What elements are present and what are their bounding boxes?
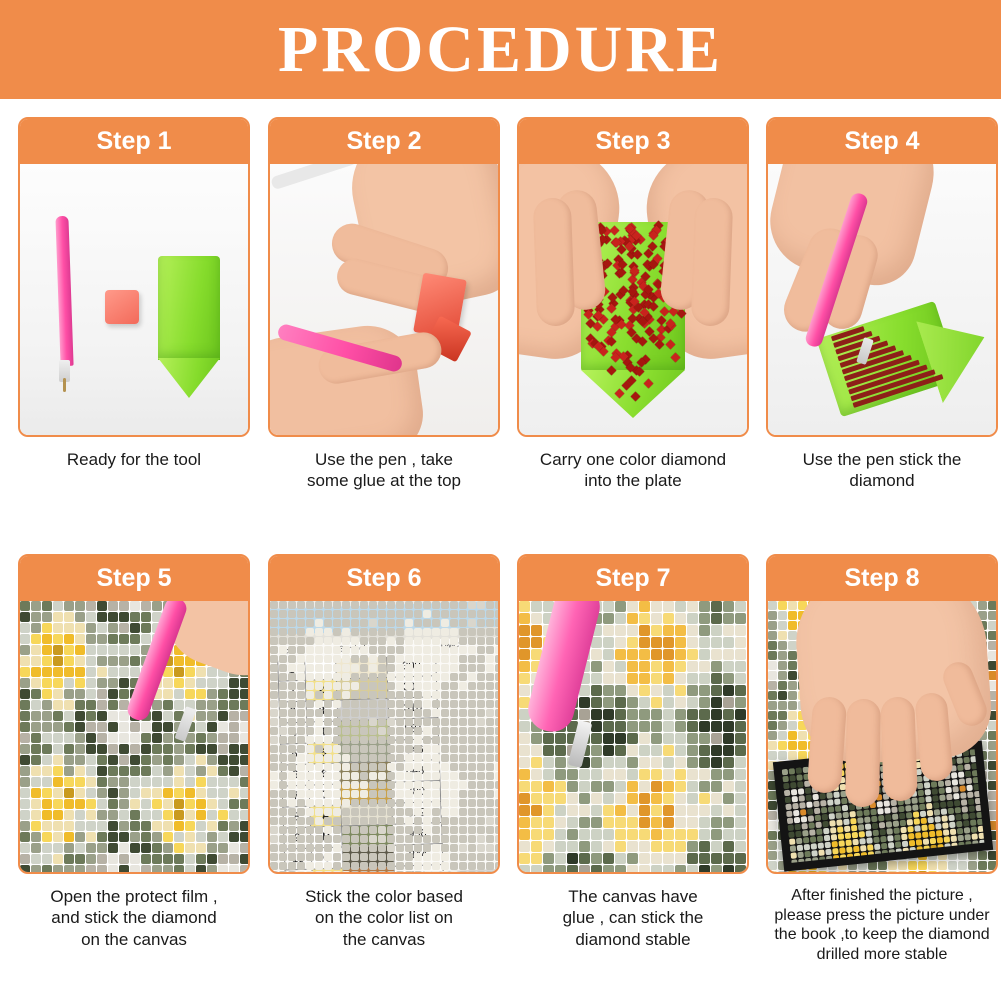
steps-grid: Step 1 <box>0 99 1001 1001</box>
step-2-label: Step 2 <box>346 127 421 156</box>
step-card-2: Step 2 <box>268 117 500 547</box>
step-card-7: Step 7 The canvas have glue , can stick … <box>517 554 749 984</box>
step-7-caption: The canvas have glue , can stick the dia… <box>517 886 749 950</box>
step-5-header: Step 5 <box>20 556 248 601</box>
procedure-infographic: PROCEDURE Step 1 <box>0 0 1001 1001</box>
canvas-edge-mosaic <box>270 601 498 872</box>
step-1-header: Step 1 <box>20 119 248 164</box>
step-8-label: Step 8 <box>844 564 919 593</box>
step-5-card: Step 5 <box>18 554 250 874</box>
step-3-label: Step 3 <box>595 127 670 156</box>
step-1-card: Step 1 <box>18 117 250 437</box>
step-5-label: Step 5 <box>96 564 171 593</box>
step-2-card: Step 2 <box>268 117 500 437</box>
step-6-label: Step 6 <box>346 564 421 593</box>
step-2-photo <box>270 164 498 435</box>
step-7-label: Step 7 <box>595 564 670 593</box>
step-6-card: Step 6 No.SymbolDMC130022307333104458155… <box>268 554 500 874</box>
step-6-caption: Stick the color based on the color list … <box>268 886 500 950</box>
step-3-caption: Carry one color diamond into the plate <box>517 449 749 492</box>
step-3-header: Step 3 <box>519 119 747 164</box>
step-7-header: Step 7 <box>519 556 747 601</box>
step-4-header: Step 4 <box>768 119 996 164</box>
step-card-3: Step 3 <box>517 117 749 547</box>
step-4-caption: Use the pen stick the diamond <box>766 449 998 492</box>
step-6-header: Step 6 <box>270 556 498 601</box>
step-5-caption: Open the protect film , and stick the di… <box>18 886 250 950</box>
step-7-photo <box>519 601 747 872</box>
step-8-header: Step 8 <box>768 556 996 601</box>
page-title: PROCEDURE <box>278 17 723 83</box>
step-6-photo: No.SymbolDMC1300223073331044581556466664… <box>270 601 498 872</box>
pen-needle-icon <box>63 378 66 392</box>
step-1-label: Step 1 <box>96 127 171 156</box>
step-4-card: Step 4 <box>766 117 998 437</box>
step-5-photo <box>20 601 248 872</box>
step-8-caption: After finished the picture , please pres… <box>766 886 998 964</box>
header-banner: PROCEDURE <box>0 0 1001 99</box>
step-2-header: Step 2 <box>270 119 498 164</box>
step-2-caption: Use the pen , take some glue at the top <box>268 449 500 492</box>
step-card-1: Step 1 <box>18 117 250 547</box>
step-1-photo <box>20 164 248 435</box>
wax-square <box>105 290 139 324</box>
step-3-photo <box>519 164 747 435</box>
steps-row-2: Step 5 Open the protect film , and stick… <box>0 554 1001 984</box>
diamond-tray <box>158 256 220 360</box>
step-card-8: Step 8 <box>766 554 998 984</box>
step-4-photo <box>768 164 996 435</box>
step-8-photo <box>768 601 996 872</box>
step-1-caption: Ready for the tool <box>18 449 250 470</box>
steps-row-1: Step 1 <box>0 117 1001 547</box>
step-8-card: Step 8 <box>766 554 998 874</box>
step-card-4: Step 4 <box>766 117 998 547</box>
step-4-label: Step 4 <box>844 127 919 156</box>
step-7-card: Step 7 <box>517 554 749 874</box>
step-3-card: Step 3 <box>517 117 749 437</box>
step-card-6: Step 6 No.SymbolDMC130022307333104458155… <box>268 554 500 984</box>
step-card-5: Step 5 Open the protect film , and stick… <box>18 554 250 984</box>
